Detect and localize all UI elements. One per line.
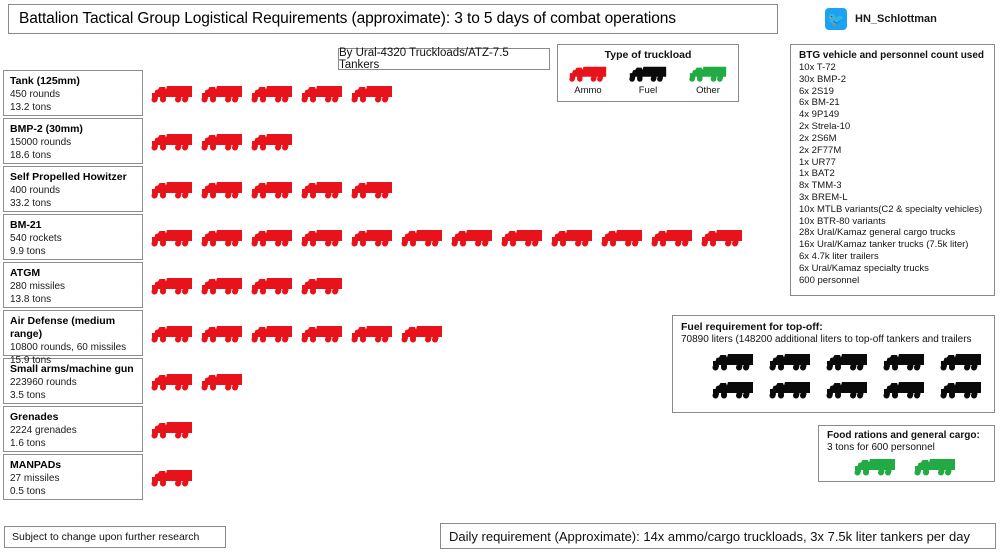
fuel-truck-row (681, 379, 994, 401)
truck-row (150, 118, 990, 166)
twitter-handle: HN_Schlottman (855, 13, 937, 25)
truck-icon (300, 227, 344, 249)
daily-requirement-label: Daily requirement (Approximate): 14x amm… (449, 529, 970, 544)
truck-icon (250, 83, 294, 105)
author-credit: 🐦 HN_Schlottman (825, 6, 995, 32)
truck-icon (150, 467, 194, 489)
truck-row (150, 214, 990, 262)
truck-icon (200, 371, 244, 393)
truck-icon (882, 379, 926, 401)
category-name: Grenades (10, 411, 137, 424)
truck-icon (400, 227, 444, 249)
category-tonnage: 13.2 tons (10, 101, 137, 114)
category-quantity: 400 rounds (10, 184, 137, 197)
truck-icon (711, 351, 755, 373)
truck-icon (650, 227, 694, 249)
truck-icon (150, 275, 194, 297)
category-quantity: 280 missiles (10, 280, 137, 293)
truck-icon (200, 131, 244, 153)
truck-icon (882, 351, 926, 373)
category-tonnage: 3.5 tons (10, 389, 137, 402)
category-name: Self Propelled Howitzer (10, 171, 137, 184)
category-name: MANPADs (10, 459, 137, 472)
truck-icon (825, 351, 869, 373)
category-quantity: 223960 rounds (10, 376, 137, 389)
truck-row (150, 70, 990, 118)
legend-title: Type of truckload (558, 49, 738, 61)
truck-icon (150, 83, 194, 105)
truck-icon (150, 419, 194, 441)
truck-icon (150, 227, 194, 249)
truck-row (150, 262, 990, 310)
truck-icon (853, 456, 897, 478)
category-name: ATGM (10, 267, 137, 280)
truck-icon (200, 83, 244, 105)
truck-icon (939, 379, 983, 401)
category-tonnage: 0.5 tons (10, 485, 137, 498)
truck-icon (400, 323, 444, 345)
truck-icon (300, 83, 344, 105)
truck-icon (700, 227, 744, 249)
fuel-truck-row (681, 351, 994, 373)
truck-icon (711, 379, 755, 401)
truck-icon (250, 323, 294, 345)
btg-count-title: BTG vehicle and personnel count used (799, 50, 988, 61)
truck-icon (550, 227, 594, 249)
twitter-icon: 🐦 (825, 8, 847, 30)
truck-icon (939, 351, 983, 373)
disclaimer-note: Subject to change upon further research (4, 526, 226, 548)
category-box: BMP-2 (30mm)15000 rounds18.6 tons (3, 118, 143, 164)
category-name: Small arms/machine gun (10, 363, 137, 376)
truck-icon (350, 227, 394, 249)
truck-icon (450, 227, 494, 249)
fuel-requirement-panel: Fuel requirement for top-off: 70890 lite… (672, 315, 995, 413)
truck-icon (913, 456, 957, 478)
food-truck-pictograms (827, 456, 994, 478)
truck-icon (250, 131, 294, 153)
truck-icon (150, 323, 194, 345)
truck-icon (150, 371, 194, 393)
truck-icon (200, 323, 244, 345)
disclaimer-label: Subject to change upon further research (12, 531, 199, 543)
category-quantity: 2224 grenades (10, 424, 137, 437)
truck-icon (200, 179, 244, 201)
category-box: Air Defense (medium range)10800 rounds, … (3, 310, 143, 356)
measurement-unit-label: By Ural-4320 Truckloads/ATZ-7.5 Tankers (339, 47, 549, 71)
category-tonnage: 18.6 tons (10, 149, 137, 162)
truck-icon (150, 131, 194, 153)
category-name: BM-21 (10, 219, 137, 232)
category-quantity: 540 rockets (10, 232, 137, 245)
truck-icon (350, 83, 394, 105)
category-quantity: 15000 rounds (10, 136, 137, 149)
category-quantity: 450 rounds (10, 88, 137, 101)
daily-requirement-note: Daily requirement (Approximate): 14x amm… (440, 523, 996, 549)
truck-icon (200, 227, 244, 249)
page-title-bar: Battalion Tactical Group Logistical Requ… (8, 4, 778, 34)
category-name: BMP-2 (30mm) (10, 123, 137, 136)
category-quantity: 10800 rounds, 60 missiles (10, 341, 137, 354)
truck-icon (300, 323, 344, 345)
page-title: Battalion Tactical Group Logistical Requ… (19, 10, 676, 28)
measurement-unit-note: By Ural-4320 Truckloads/ATZ-7.5 Tankers (338, 48, 550, 70)
fuel-requirement-title: Fuel requirement for top-off: (681, 321, 994, 333)
category-box: Tank (125mm)450 rounds13.2 tons (3, 70, 143, 116)
truck-icon (300, 275, 344, 297)
category-tonnage: 33.2 tons (10, 197, 137, 210)
truck-icon (768, 351, 812, 373)
truck-icon (825, 379, 869, 401)
category-tonnage: 13.8 tons (10, 293, 137, 306)
food-rations-title: Food rations and general cargo: (827, 430, 994, 441)
category-label-column: Tank (125mm)450 rounds13.2 tonsBMP-2 (30… (3, 70, 143, 502)
truck-icon (500, 227, 544, 249)
category-box: ATGM280 missiles13.8 tons (3, 262, 143, 308)
category-tonnage: 9.9 tons (10, 245, 137, 258)
fuel-truck-pictograms (681, 351, 994, 401)
truck-icon (200, 275, 244, 297)
category-box: Grenades2224 grenades1.6 tons (3, 406, 143, 452)
truck-icon (300, 179, 344, 201)
fuel-requirement-detail: 70890 liters (148200 additional liters t… (681, 334, 994, 345)
category-box: BM-21540 rockets9.9 tons (3, 214, 143, 260)
truck-icon (250, 179, 294, 201)
category-box: MANPADs27 missiles0.5 tons (3, 454, 143, 500)
truck-icon (150, 179, 194, 201)
truck-icon (350, 323, 394, 345)
food-rations-panel: Food rations and general cargo: 3 tons f… (818, 425, 995, 482)
truck-icon (350, 179, 394, 201)
category-quantity: 27 missiles (10, 472, 137, 485)
category-tonnage: 1.6 tons (10, 437, 137, 450)
category-box: Small arms/machine gun223960 rounds3.5 t… (3, 358, 143, 404)
truck-row (150, 166, 990, 214)
category-name: Tank (125mm) (10, 75, 137, 88)
truck-icon (250, 275, 294, 297)
category-box: Self Propelled Howitzer400 rounds33.2 to… (3, 166, 143, 212)
food-rations-detail: 3 tons for 600 personnel (827, 442, 994, 453)
truck-icon (600, 227, 644, 249)
truck-icon (768, 379, 812, 401)
category-name: Air Defense (medium range) (10, 315, 137, 341)
truck-icon (250, 227, 294, 249)
